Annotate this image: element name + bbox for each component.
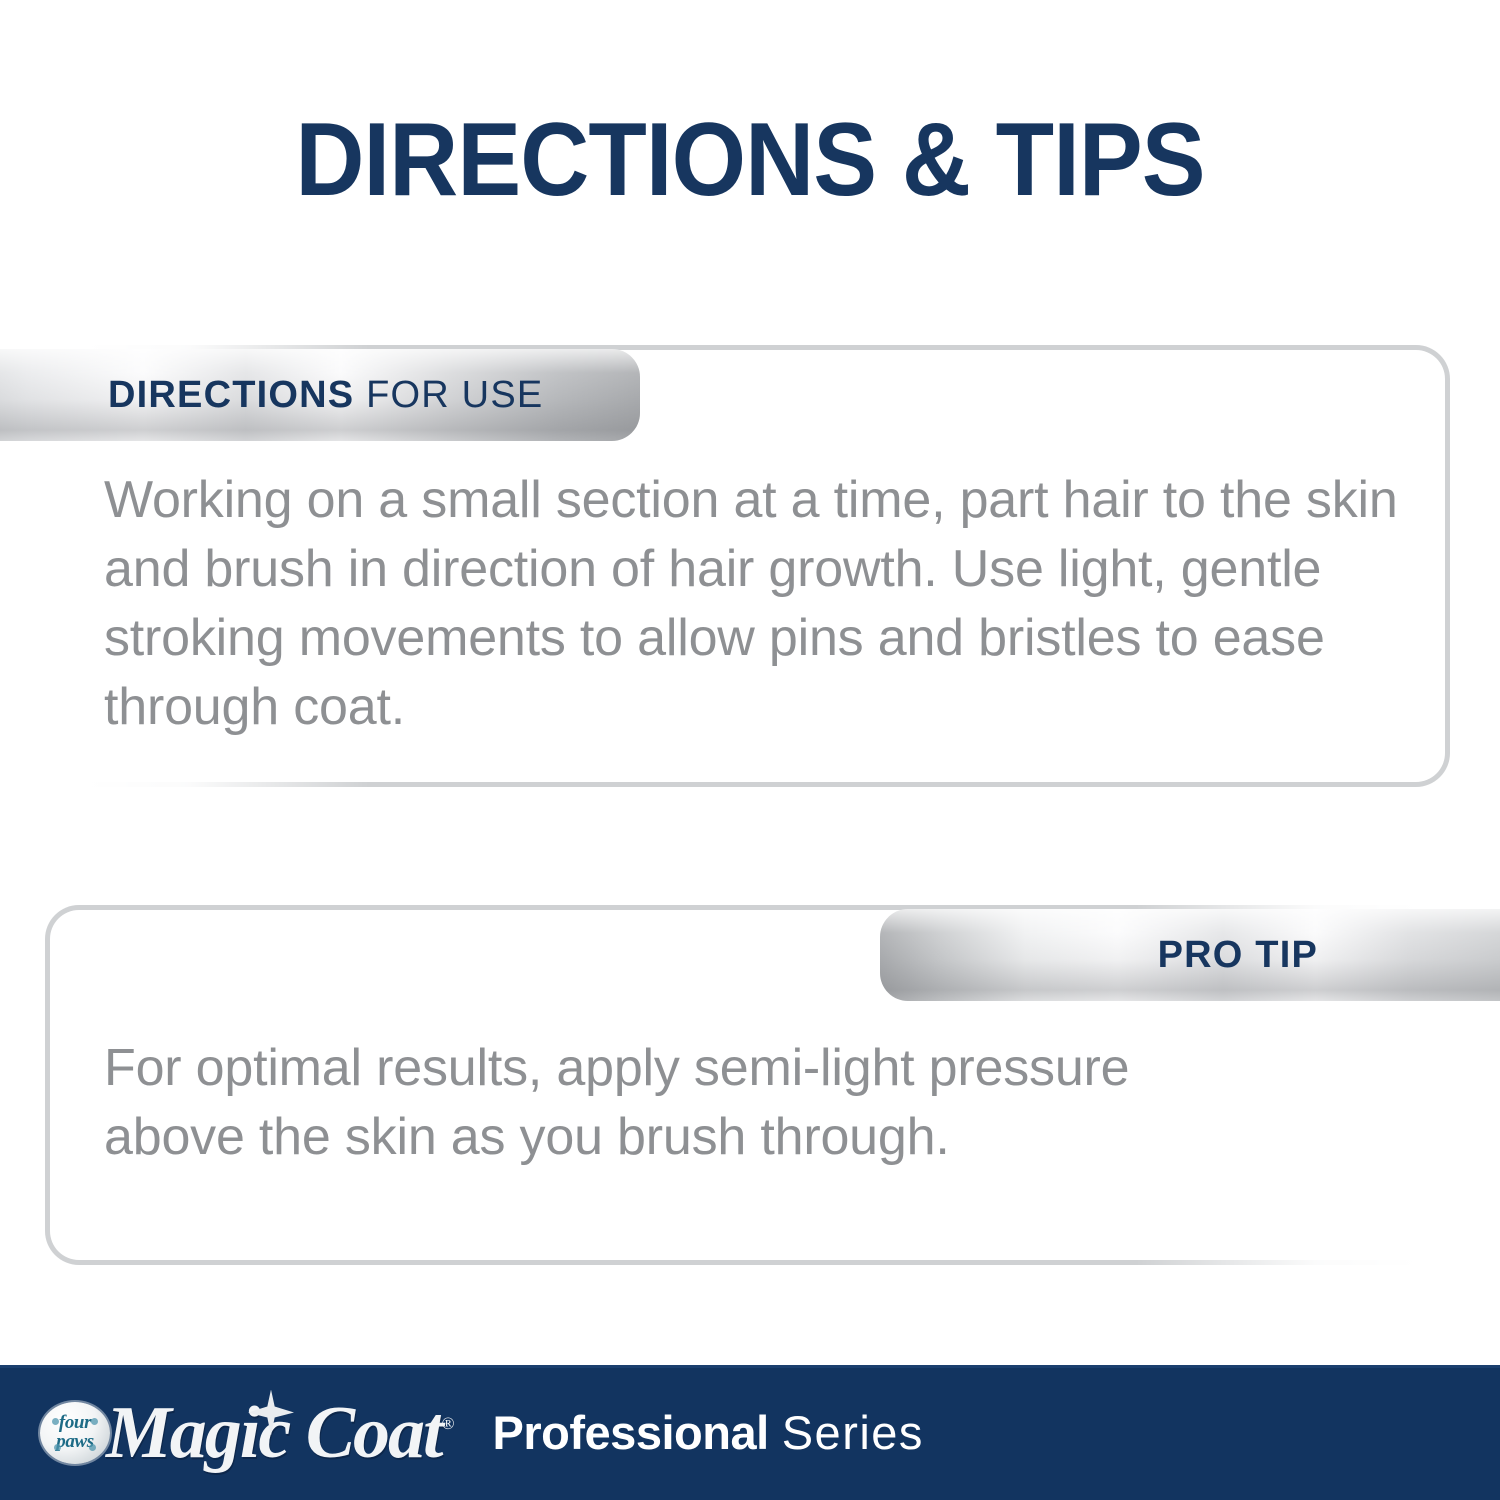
paw-print-icon: [91, 1418, 98, 1425]
tagline-bold: Professional: [493, 1406, 769, 1459]
paw-print-icon: [89, 1444, 96, 1451]
directions-banner-light: FOR USE: [354, 374, 543, 416]
directions-banner-strong: DIRECTIONS: [108, 374, 354, 416]
page-title: DIRECTIONS & TIPS: [60, 108, 1440, 212]
magic-coat-wordmark: Magic Coat®: [106, 1396, 461, 1470]
four-paws-logo-icon: four paws: [40, 1402, 110, 1464]
tagline-light: Series: [782, 1406, 924, 1459]
directions-banner: DIRECTIONS FOR USE: [0, 349, 640, 441]
paw-print-icon: [52, 1418, 59, 1425]
professional-series-tagline: Professional Series: [493, 1409, 924, 1456]
directions-banner-label: DIRECTIONS FOR USE: [108, 374, 543, 417]
brand-lockup: four paws Magic Coat® Professional Serie…: [40, 1365, 924, 1500]
four-paws-line-1: four: [59, 1414, 91, 1433]
directions-body-text: Working on a small section at a time, pa…: [104, 466, 1404, 743]
protip-banner-strong: PRO TIP: [1158, 934, 1318, 976]
protip-banner-label: PRO TIP: [1158, 934, 1318, 977]
footer-bar: four paws Magic Coat® Professional Serie…: [0, 1365, 1500, 1500]
registered-trademark-icon: ®: [442, 1414, 455, 1433]
protip-banner: PRO TIP: [880, 909, 1500, 1001]
protip-body-text: For optimal results, apply semi-light pr…: [104, 1034, 1284, 1172]
paw-print-icon: [54, 1444, 61, 1451]
